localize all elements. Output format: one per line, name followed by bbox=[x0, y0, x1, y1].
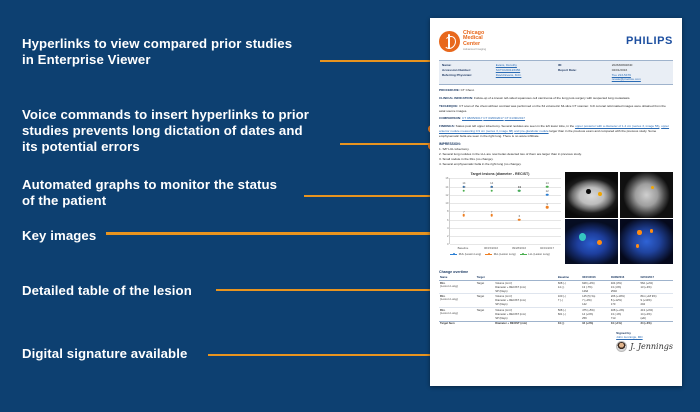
key-images-grid bbox=[565, 172, 673, 264]
chart-legend: RUL (Lesion Lung)RLL (Lesion Lung)LLL (L… bbox=[439, 253, 561, 256]
philips-logo: PHILIPS bbox=[626, 35, 673, 47]
chart-x-tick: Baseline bbox=[449, 246, 477, 250]
lesion-marker bbox=[579, 233, 586, 241]
patient-info-left: Name: Evans, Dorothy Accession Number: S… bbox=[442, 63, 554, 82]
chart-legend-item: LLL (Lesion Lung) bbox=[520, 253, 550, 256]
field-label: Referring Physician: bbox=[442, 73, 496, 78]
chart-data-point bbox=[546, 185, 549, 188]
table-cell: Target bbox=[476, 280, 495, 294]
section-label: FINDINGS: bbox=[439, 124, 455, 128]
chart-gridline bbox=[450, 244, 561, 245]
section-label: TECHNIQUE: bbox=[439, 104, 458, 108]
lesion-marker bbox=[637, 230, 641, 235]
report-header: Chicago Medical Center Advanced Imaging … bbox=[439, 26, 673, 56]
section-text: CT scan of the chest without contrast wa… bbox=[439, 104, 666, 113]
chart-and-images-band: Target lesions (diameter - RECIST) 02468… bbox=[439, 172, 673, 264]
table-body: RLL(Lesion Lung)TargetVolume (mm³)608 (-… bbox=[439, 280, 673, 325]
chart-data-point bbox=[546, 206, 549, 209]
referring-physician-link[interactable]: David Evans, M.D. bbox=[496, 73, 522, 78]
chart-data-point bbox=[463, 214, 466, 217]
handwritten-signature: J. Jennings bbox=[630, 342, 673, 351]
chart-data-point bbox=[546, 194, 549, 197]
chart-point-label: 13 bbox=[518, 185, 521, 189]
hospital-logo: Chicago Medical Center Advanced Imaging bbox=[439, 31, 486, 52]
patient-info-right: ID: 202630802840 Report Date: 02/01/2016… bbox=[558, 63, 670, 82]
chart-point-label: 7 bbox=[491, 210, 493, 214]
impression-list: 1. S/P LUL lobectomy. 2. Several lung no… bbox=[439, 147, 673, 166]
chart-title: Target lesions (diameter - RECIST) bbox=[439, 172, 561, 176]
chart-x-axis: Baseline06/15/201609/28/201602/01/2017 bbox=[449, 246, 561, 250]
key-image-pet-coronal[interactable] bbox=[620, 219, 673, 264]
legend-label: RLL (Lesion Lung) bbox=[494, 253, 516, 256]
legend-swatch bbox=[450, 254, 457, 256]
table-cell: Target bbox=[476, 294, 495, 308]
lesion-marker bbox=[598, 192, 602, 196]
impression-heading: IMPRESSION: bbox=[439, 142, 673, 146]
field-label bbox=[558, 77, 612, 82]
section-label: CLINICAL INDICATION: bbox=[439, 96, 473, 100]
signer-name-link[interactable]: John Jennings, MD bbox=[616, 335, 673, 339]
chart-data-point bbox=[518, 189, 521, 192]
patient-field-email: revale@practice.com bbox=[558, 77, 670, 82]
lesion-marker bbox=[651, 186, 654, 190]
chart-y-tick: 4 bbox=[447, 226, 449, 230]
key-image-ct-coronal[interactable] bbox=[620, 172, 673, 217]
chart-y-tick: 0 bbox=[447, 242, 449, 246]
section-technique: TECHNIQUE: CT scan of the chest without … bbox=[439, 104, 673, 113]
logo-subtitle: Advanced Imaging bbox=[463, 48, 486, 51]
key-image-pet-axial[interactable] bbox=[565, 219, 618, 264]
table-summary-row: Target SumDiameter + RECIST (mm)34 (-)34… bbox=[439, 321, 673, 326]
section-comparison: COMPARISON: CT 08/05/2017 CT 03/06/2017 … bbox=[439, 116, 673, 121]
chart-plot-area: 024681012141614141312776913131314 bbox=[449, 178, 561, 244]
leader-line-voice-commands bbox=[340, 143, 442, 145]
table-cell: RLL(Lesion Lung) bbox=[439, 308, 476, 322]
legend-label: LLL (Lesion Lung) bbox=[528, 253, 550, 256]
table-cell: RLL(Lesion Lung) bbox=[439, 280, 476, 294]
table-cell: Diameter + RECIST (mm) bbox=[494, 321, 557, 326]
chart-point-label: 9 bbox=[546, 202, 548, 206]
slide-canvas: Hyperlinks to view compared prior studie… bbox=[0, 0, 700, 412]
change-overtime-title: Change overtime bbox=[439, 270, 673, 274]
patient-field-referring: Referring Physician: David Evans, M.D. bbox=[442, 73, 554, 78]
section-label: COMPARISON: bbox=[439, 116, 461, 120]
chart-y-tick: 6 bbox=[447, 218, 449, 222]
table-cell: 34 (+1%) bbox=[610, 321, 640, 326]
chart-y-tick: 12 bbox=[445, 193, 448, 197]
signer-avatar bbox=[616, 341, 627, 352]
email-link[interactable]: revale@practice.com bbox=[612, 77, 641, 82]
lesion-marker bbox=[597, 240, 602, 245]
key-image-ct-axial[interactable] bbox=[565, 172, 618, 217]
table-cell: 34 (-) bbox=[557, 321, 581, 326]
table-cell: Target Sum bbox=[439, 321, 476, 326]
chart-y-tick: 16 bbox=[445, 176, 448, 180]
leader-line-detailed-table bbox=[216, 289, 438, 291]
chart-data-point bbox=[518, 218, 521, 221]
lesion-marker bbox=[650, 229, 654, 233]
table-cell: RLL(Lesion Lung) bbox=[439, 294, 476, 308]
chart-legend-item: RUL (Lesion Lung) bbox=[450, 253, 481, 256]
chart-data-point bbox=[490, 214, 493, 217]
chart-point-label: 13 bbox=[462, 185, 465, 189]
legend-swatch bbox=[485, 254, 492, 256]
chart-y-tick: 8 bbox=[447, 209, 449, 213]
chart-point-label: 14 bbox=[546, 181, 549, 185]
cavity-region bbox=[586, 189, 591, 194]
section-clinical-indication: CLINICAL INDICATION: Follow-up of a know… bbox=[439, 96, 673, 101]
chart-legend-item: RLL (Lesion Lung) bbox=[485, 253, 516, 256]
prior-study-link-2[interactable]: CT 03/06/2017 bbox=[483, 116, 503, 120]
prior-study-link-1[interactable]: CT 08/05/2017 bbox=[462, 116, 482, 120]
chart-point-label: 13 bbox=[490, 185, 493, 189]
chart-y-tick: 2 bbox=[447, 234, 449, 238]
annotation-key-images: Key images bbox=[22, 228, 222, 244]
chart-point-label: 6 bbox=[519, 214, 521, 218]
section-text: Status post left upper lobectomy. Severa… bbox=[455, 124, 575, 128]
signature-block: Signed by John Jennings, MD J. Jennings bbox=[439, 331, 673, 352]
chart-point-label: 12 bbox=[546, 189, 549, 193]
leader-line-hyperlinks bbox=[320, 60, 442, 62]
table-cell bbox=[476, 321, 495, 326]
table-cell: Target bbox=[476, 308, 495, 322]
target-lesions-chart: Target lesions (diameter - RECIST) 02468… bbox=[439, 172, 561, 264]
finding-link-1[interactable]: upper posterior with a diameter of 1.4 c… bbox=[575, 124, 659, 128]
chart-x-tick: 06/15/2016 bbox=[477, 246, 505, 250]
legend-swatch bbox=[520, 254, 527, 256]
radiology-report-page: Chicago Medical Center Advanced Imaging … bbox=[430, 18, 682, 386]
patient-info-strip: Name: Evans, Dorothy Accession Number: S… bbox=[439, 60, 673, 85]
annotation-hyperlinks: Hyperlinks to view compared prior studie… bbox=[22, 36, 332, 68]
section-procedure: PROCEDURE: CT Chest. bbox=[439, 88, 673, 93]
table-cell: 34 (+3%) bbox=[640, 321, 674, 326]
impression-item: 4. Several emphysematic bulla in the rig… bbox=[439, 162, 673, 167]
chart-y-tick: 14 bbox=[445, 185, 448, 189]
prior-study-link-3[interactable]: CT 01/30/2017 bbox=[505, 116, 525, 120]
chart-y-tick: 10 bbox=[445, 201, 448, 205]
chart-data-point bbox=[463, 189, 466, 192]
legend-label: RUL (Lesion Lung) bbox=[459, 253, 481, 256]
chart-series-lines bbox=[450, 178, 561, 244]
lesion-marker bbox=[636, 244, 639, 248]
chart-point-label: 7 bbox=[463, 210, 465, 214]
section-text: CT Chest. bbox=[460, 88, 475, 92]
annotation-voice-commands: Voice commands to insert hyperlinks to p… bbox=[22, 107, 344, 155]
section-text: Follow-up of a known left-sided squamous… bbox=[473, 96, 630, 100]
chart-data-point bbox=[490, 189, 493, 192]
annotation-detailed-table: Detailed table of the lesion bbox=[22, 283, 242, 299]
leader-line-automated-graphs bbox=[304, 195, 438, 197]
section-label: PROCEDURE: bbox=[439, 88, 460, 92]
chart-x-tick: 09/28/2016 bbox=[505, 246, 533, 250]
chart-x-tick: 02/01/2017 bbox=[533, 246, 561, 250]
caduceus-icon bbox=[439, 31, 460, 52]
change-overtime-table: NameTargetBaseline06/15/201609/28/201602… bbox=[439, 275, 673, 325]
table-cell: 34 (+2%) bbox=[581, 321, 610, 326]
finding-link-3[interactable]: and pre-glandular nodule bbox=[514, 129, 548, 133]
annotation-automated-graphs: Automated graphs to monitor the status o… bbox=[22, 177, 322, 209]
section-findings: FINDINGS: Status post left upper lobecto… bbox=[439, 124, 673, 138]
